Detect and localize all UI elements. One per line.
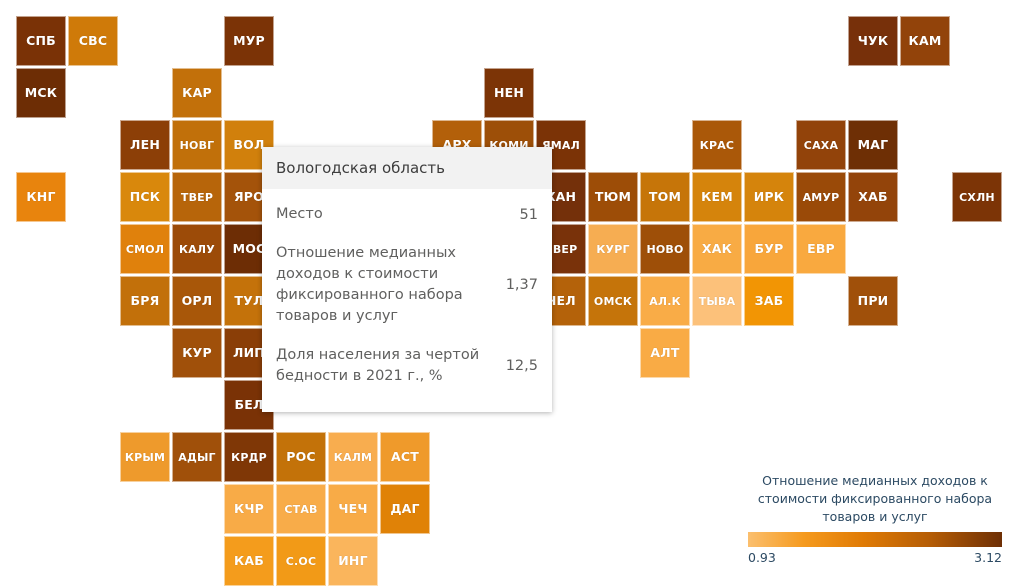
map-tile[interactable]: СВС	[68, 16, 118, 66]
map-tile[interactable]: ЧЕЧ	[328, 484, 378, 534]
map-tile-label: НЕН	[494, 87, 524, 100]
map-tile[interactable]: МАГ	[848, 120, 898, 170]
map-tile[interactable]: КАЛМ	[328, 432, 378, 482]
map-tile-label: КАЛМ	[334, 452, 372, 463]
map-tile[interactable]: БУР	[744, 224, 794, 274]
map-tile[interactable]: ЗАБ	[744, 276, 794, 326]
map-tile-label: ЕВР	[807, 243, 835, 256]
map-tile-label: ТЫВА	[699, 296, 736, 307]
map-tile-label: АЛТ	[650, 347, 679, 360]
color-legend: Отношение медианных доходов к стоимости …	[748, 472, 1002, 565]
map-tile-label: БРЯ	[131, 295, 160, 308]
tooltip-row: Отношение медианных доходов к стоимости …	[276, 234, 538, 336]
map-tile[interactable]: АМУР	[796, 172, 846, 222]
map-tile[interactable]: КАБ	[224, 536, 274, 586]
map-tile[interactable]: ТОМ	[640, 172, 690, 222]
map-tile-label: НОВО	[646, 244, 683, 255]
map-tile-label: БУР	[755, 243, 784, 256]
map-tile[interactable]: ПРИ	[848, 276, 898, 326]
map-tile[interactable]: ТВЕР	[172, 172, 222, 222]
map-tile[interactable]: МУР	[224, 16, 274, 66]
map-tile-label: МСК	[25, 87, 57, 100]
map-tile-label: БЕЛ	[234, 399, 263, 412]
map-tile-label: СПБ	[26, 35, 56, 48]
map-tile-label: ИРК	[754, 191, 784, 204]
legend-gradient-bar	[748, 532, 1002, 547]
map-tile-label: ИНГ	[338, 555, 368, 568]
map-tile-label: ПРИ	[858, 295, 889, 308]
map-tile-label: КУР	[182, 347, 212, 360]
tooltip-row-value: 51	[520, 207, 538, 223]
map-tile-label: ЧЕЧ	[338, 503, 367, 516]
tooltip-body: Место51Отношение медианных доходов к сто…	[262, 189, 552, 412]
map-tile[interactable]: С.ОС	[276, 536, 326, 586]
map-tile[interactable]: НЕН	[484, 68, 534, 118]
legend-min-label: 0.93	[748, 550, 776, 565]
map-tile-label: ДАГ	[390, 503, 419, 516]
map-tile[interactable]: КАМ	[900, 16, 950, 66]
map-tile[interactable]: ЕВР	[796, 224, 846, 274]
map-tile[interactable]: ДАГ	[380, 484, 430, 534]
map-tile[interactable]: СТАВ	[276, 484, 326, 534]
map-tile-label: ХАБ	[858, 191, 887, 204]
map-tile[interactable]: ОМСК	[588, 276, 638, 326]
map-tile[interactable]: ТЮМ	[588, 172, 638, 222]
map-tile[interactable]: СХЛН	[952, 172, 1002, 222]
map-tile[interactable]: КАР	[172, 68, 222, 118]
map-tile[interactable]: СПБ	[16, 16, 66, 66]
map-tile[interactable]: НОВГ	[172, 120, 222, 170]
map-tile[interactable]: КЧР	[224, 484, 274, 534]
map-tile[interactable]: АСТ	[380, 432, 430, 482]
map-tile[interactable]: КАЛУ	[172, 224, 222, 274]
map-tile-label: КЧР	[234, 503, 264, 516]
map-tile[interactable]: СМОЛ	[120, 224, 170, 274]
map-tile-label: КРАС	[700, 140, 734, 151]
map-tile-label: ЧУК	[858, 35, 889, 48]
map-tile[interactable]: БРЯ	[120, 276, 170, 326]
map-tile[interactable]: ПСК	[120, 172, 170, 222]
map-tile-label: ТОМ	[649, 191, 681, 204]
map-tile-label: КАМ	[909, 35, 942, 48]
map-tile-label: ОРЛ	[182, 295, 213, 308]
map-tile-label: ТВЕР	[181, 192, 213, 203]
map-tile-label: С.ОС	[286, 556, 316, 567]
tooltip-row-label: Место	[276, 204, 510, 225]
map-tile[interactable]: АЛТ	[640, 328, 690, 378]
map-tile-label: ЛЕН	[130, 139, 160, 152]
map-tile-label: КАР	[182, 87, 212, 100]
map-tile[interactable]: КУР	[172, 328, 222, 378]
map-tile[interactable]: ИРК	[744, 172, 794, 222]
map-tile[interactable]: МСК	[16, 68, 66, 118]
map-tile-label: КАЛУ	[179, 244, 215, 255]
map-tile-label: КЕМ	[701, 191, 733, 204]
tooltip-row: Место51	[276, 195, 538, 234]
map-tile-label: МАГ	[858, 139, 889, 152]
map-tile-label: ОМСК	[594, 296, 632, 307]
map-tile-label: КРДР	[231, 452, 267, 463]
map-tile[interactable]: АЛ.К	[640, 276, 690, 326]
map-tile[interactable]: ТЫВА	[692, 276, 742, 326]
map-tile-label: АСТ	[391, 451, 419, 464]
map-tile-label: АДЫГ	[178, 452, 216, 463]
map-tile[interactable]: КНГ	[16, 172, 66, 222]
map-tile-label: ЗАБ	[755, 295, 784, 308]
map-tile[interactable]: КРДР	[224, 432, 274, 482]
map-tile-label: ТУЛ	[234, 295, 263, 308]
map-tile[interactable]: КЕМ	[692, 172, 742, 222]
legend-scale: 0.93 3.12	[748, 550, 1002, 565]
map-tile[interactable]: ОРЛ	[172, 276, 222, 326]
map-tile-label: КНГ	[26, 191, 55, 204]
map-tile-label: СВС	[79, 35, 107, 48]
tile-cartogram: СПБСВСМУРЧУККАММСККАРНЕНЛЕННОВГВОЛАРХКОМ…	[0, 0, 1010, 568]
map-tile[interactable]: ЛЕН	[120, 120, 170, 170]
tooltip-row-label: Отношение медианных доходов к стоимости …	[276, 243, 496, 327]
map-tile-label: ПСК	[130, 191, 160, 204]
map-tile-label: МОС	[233, 243, 266, 256]
map-tile-label: ЛИП	[233, 347, 265, 360]
map-tile[interactable]: КРАС	[692, 120, 742, 170]
legend-max-label: 3.12	[974, 550, 1002, 565]
map-tile[interactable]: ХАБ	[848, 172, 898, 222]
map-tile[interactable]: АДЫГ	[172, 432, 222, 482]
map-tile[interactable]: КРЫМ	[120, 432, 170, 482]
map-tile[interactable]: САХА	[796, 120, 846, 170]
region-tooltip: Вологодская область Место51Отношение мед…	[262, 147, 552, 412]
map-tile[interactable]: ХАК	[692, 224, 742, 274]
tooltip-row-value: 12,5	[506, 358, 538, 374]
legend-title: Отношение медианных доходов к стоимости …	[748, 472, 1002, 526]
tooltip-row-label: Доля населения за чертой бедности в 2021…	[276, 345, 496, 387]
map-tile-label: КУРГ	[596, 244, 629, 255]
map-tile-label: САХА	[804, 140, 838, 151]
map-tile-label: ТЮМ	[595, 191, 631, 204]
map-tile-label: АМУР	[803, 192, 840, 203]
map-tile-label: КАБ	[234, 555, 264, 568]
map-tile-label: ЯРО	[234, 191, 264, 204]
map-tile-label: МУР	[233, 35, 265, 48]
tooltip-row: Доля населения за чертой бедности в 2021…	[276, 336, 538, 396]
map-tile[interactable]: КУРГ	[588, 224, 638, 274]
map-tile[interactable]: ИНГ	[328, 536, 378, 586]
map-tile[interactable]: НОВО	[640, 224, 690, 274]
map-tile-label: КРЫМ	[125, 452, 165, 463]
map-tile[interactable]: РОС	[276, 432, 326, 482]
map-tile-label: РОС	[286, 451, 316, 464]
tooltip-title: Вологодская область	[262, 147, 552, 189]
map-tile-label: СХЛН	[959, 192, 995, 203]
map-tile[interactable]: ЧУК	[848, 16, 898, 66]
map-tile-label: СМОЛ	[126, 244, 164, 255]
map-tile-label: ВОЛ	[233, 139, 264, 152]
map-tile-label: СТАВ	[284, 504, 317, 515]
map-tile-label: АЛ.К	[649, 296, 681, 307]
map-tile-label: НОВГ	[180, 140, 215, 151]
map-tile-label: ХАК	[702, 243, 732, 256]
tooltip-row-value: 1,37	[506, 277, 538, 293]
